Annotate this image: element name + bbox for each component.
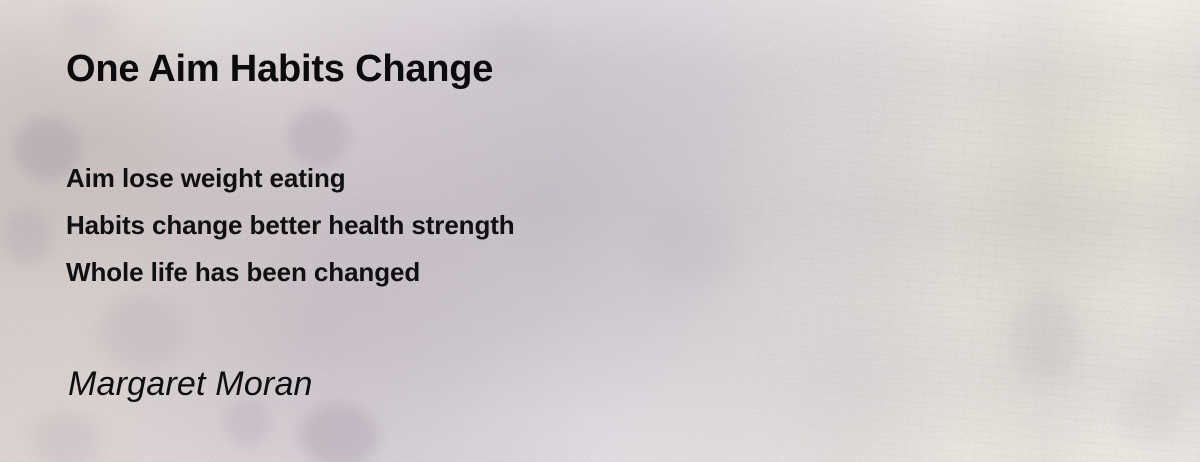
poem-line: Habits change better health strength: [66, 202, 515, 249]
poem-text-block: One Aim Habits Change Aim lose weight ea…: [0, 0, 1200, 462]
page-title: One Aim Habits Change: [66, 48, 493, 91]
poem-line: Aim lose weight eating: [66, 155, 515, 202]
poem-line: Whole life has been changed: [66, 249, 515, 296]
poem-card: One Aim Habits Change Aim lose weight ea…: [0, 0, 1200, 462]
poem-body: Aim lose weight eating Habits change bet…: [66, 155, 515, 296]
poem-author: Margaret Moran: [68, 365, 313, 404]
